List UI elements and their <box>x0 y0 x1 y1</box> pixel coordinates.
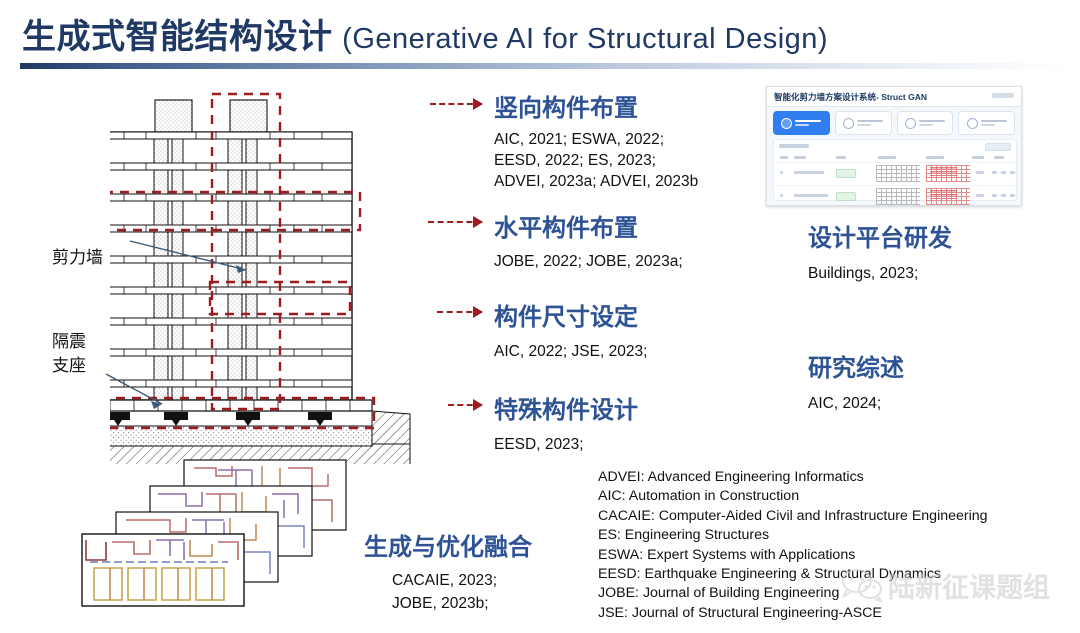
platform-tabs <box>773 111 1015 135</box>
callout-refs-vertical-members: AIC, 2021; ESWA, 2022; EESD, 2022; ES, 2… <box>494 129 698 192</box>
callout-heading-design-platform: 设计平台研发 <box>808 218 952 253</box>
table-row[interactable] <box>774 162 1016 186</box>
callout-heading-vertical-members: 竖向构件布置 <box>494 88 698 123</box>
platform-user-chip[interactable] <box>992 93 1014 98</box>
floor-plan-stack <box>66 456 366 616</box>
page-title-en: (Generative AI for Structural Design) <box>342 23 828 55</box>
slide-root: 生成式智能结构设计 (Generative AI for Structural … <box>0 0 1080 633</box>
label-isolation-bearing: 隔震 支座 <box>52 330 86 378</box>
callout-refs-design-platform: Buildings, 2023; <box>808 263 952 284</box>
platform-tab-model-drawing[interactable] <box>897 111 954 135</box>
callout-arrow-3 <box>437 311 482 313</box>
page-title-cn: 生成式智能结构设计 <box>22 18 333 56</box>
platform-tab-project-management[interactable] <box>958 111 1015 135</box>
callout-generation-optimization: 生成与优化融合 CACAIE, 2023; JOBE, 2023b; <box>364 527 532 615</box>
platform-tab-label <box>919 120 945 127</box>
folder-icon <box>967 118 978 129</box>
floor-plan-1 <box>82 534 244 606</box>
callout-heading-research-review: 研究综述 <box>808 348 904 383</box>
callout-refs-member-sizing: AIC, 2022; JSE, 2023; <box>494 341 647 362</box>
shearwall-icon <box>781 118 792 129</box>
callout-refs-research-review: AIC, 2024; <box>808 393 904 414</box>
callout-vertical-members: 竖向构件布置 AIC, 2021; ESWA, 2022; EESD, 2022… <box>494 88 698 192</box>
label-isolation-bearing-line1: 隔震 <box>52 332 86 351</box>
callout-arrow-2 <box>428 221 482 223</box>
leader-line-isolation-bearing <box>104 372 174 414</box>
callout-refs-special-members: EESD, 2023; <box>494 434 638 455</box>
platform-screenshot[interactable]: 智能化剪力墙方案设计系统- Struct GAN <box>766 86 1022 206</box>
label-isolation-bearing-line2: 支座 <box>52 356 86 375</box>
callout-arrow-4 <box>448 404 482 406</box>
drawing-icon <box>905 118 916 129</box>
callout-arrow-1 <box>430 103 482 105</box>
platform-tab-label <box>795 120 821 127</box>
journal-abbreviation-legend: ADVEI: Advanced Engineering Informatics … <box>598 468 1068 623</box>
callout-refs-generation-optimization: CACAIE, 2023; JOBE, 2023b; <box>392 569 532 615</box>
callout-special-members: 特殊构件设计 EESD, 2023; <box>494 390 638 455</box>
platform-tab-beam-slab-design[interactable] <box>835 111 892 135</box>
callout-heading-generation-optimization: 生成与优化融合 <box>364 527 532 562</box>
table-row[interactable] <box>774 185 1016 206</box>
platform-tab-shearwall-layout[interactable] <box>773 111 830 135</box>
callout-heading-member-sizing: 构件尺寸设定 <box>494 297 647 332</box>
platform-tab-label <box>857 120 883 127</box>
beam-icon <box>843 118 854 129</box>
leader-line-shear-wall <box>128 236 258 281</box>
platform-panel-action-button[interactable] <box>985 143 1011 151</box>
callout-heading-horizontal-members: 水平构件布置 <box>494 208 683 243</box>
callout-heading-special-members: 特殊构件设计 <box>494 390 638 425</box>
callout-horizontal-members: 水平构件布置 JOBE, 2022; JOBE, 2023a; <box>494 208 683 272</box>
platform-results-panel <box>773 139 1017 201</box>
platform-panel-heading <box>779 144 809 148</box>
callout-refs-horizontal-members: JOBE, 2022; JOBE, 2023a; <box>494 251 683 272</box>
callout-research-review: 研究综述 AIC, 2024; <box>808 348 904 414</box>
title-divider <box>20 63 1070 69</box>
platform-tab-label <box>981 120 1007 127</box>
platform-app-title: 智能化剪力墙方案设计系统- Struct GAN <box>774 91 927 103</box>
page-title: 生成式智能结构设计 (Generative AI for Structural … <box>22 9 828 58</box>
callout-design-platform: 设计平台研发 Buildings, 2023; <box>808 218 952 284</box>
slide-title-block: 生成式智能结构设计 (Generative AI for Structural … <box>0 0 1080 76</box>
label-shear-wall: 剪力墙 <box>52 243 103 268</box>
callout-member-sizing: 构件尺寸设定 AIC, 2022; JSE, 2023; <box>494 297 647 362</box>
